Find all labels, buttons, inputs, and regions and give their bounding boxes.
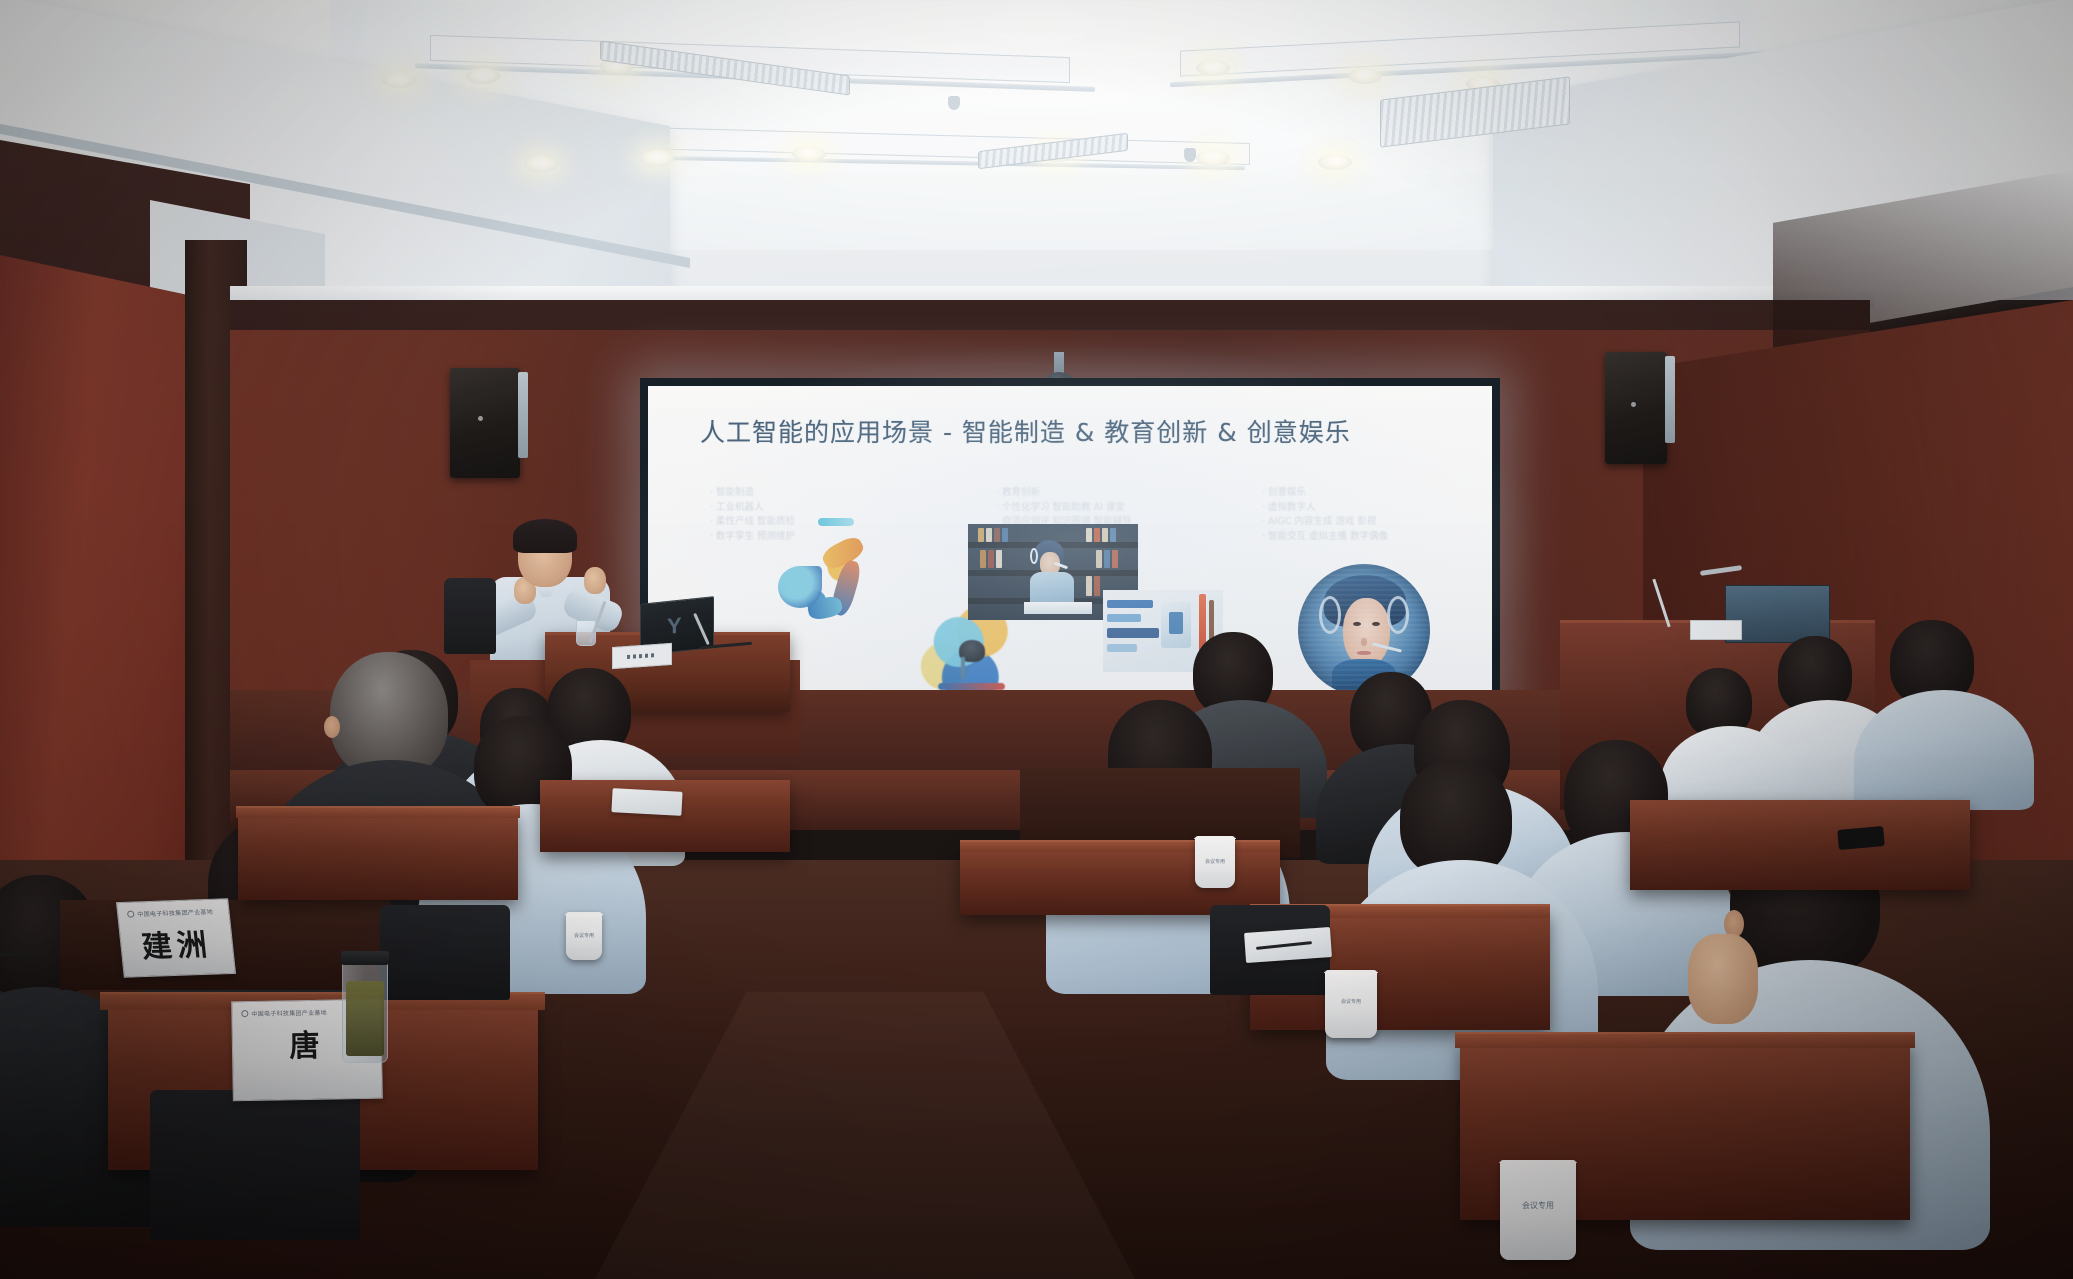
- cup-logo-text: 会议专用: [1522, 1200, 1554, 1211]
- presenter-hand-left: [584, 567, 606, 594]
- sprinkler-1: [948, 96, 960, 110]
- wall-speaker-right: [1605, 352, 1667, 464]
- cup-logo-text: 会议专用: [574, 932, 594, 939]
- placard-org-line: 中国电子科技集团产业基地: [127, 907, 214, 919]
- paper-cup-left: 会议专用: [566, 912, 602, 960]
- presenter-name-card: [612, 643, 672, 669]
- placard-org-line: 中国电子科技集团产业基地: [241, 1008, 327, 1018]
- name-placard-jianzhou: 中国电子科技集团产业基地 建洲: [116, 898, 236, 978]
- tea-jar: [342, 958, 388, 1063]
- bullet-line: · 智能交互 虚拟主播 数字偶像: [1262, 530, 1492, 545]
- wall-speaker-left: [450, 368, 520, 478]
- desk-left-rear-top: [236, 806, 520, 818]
- phone-on-desk: [1837, 826, 1885, 850]
- downlight-4: [1196, 60, 1230, 76]
- eyeglasses: [0, 953, 38, 956]
- tea-jar-lid: [341, 951, 389, 965]
- paper-cup-mid-center: 会议专用: [1325, 970, 1377, 1038]
- desk-right-front-top: [1455, 1032, 1915, 1048]
- downlight-11: [792, 146, 826, 162]
- downlight-9: [524, 156, 558, 172]
- downlight-10: [640, 150, 674, 166]
- slide-image-robot-arm-icon: [778, 536, 878, 641]
- bullet-line: · AIGC 内容生成 游戏 影视: [1262, 515, 1492, 530]
- bullet-line: · 工业机器人: [710, 501, 960, 516]
- slide-bullet-column-3: · 创意娱乐 · 虚拟数字人 · AIGC 内容生成 游戏 影视 · 智能交互 …: [1262, 486, 1492, 545]
- conference-room-photo: 人工智能的应用场景 - 智能制造 & 教育创新 & 创意娱乐 · 智能制造 · …: [0, 0, 2073, 1279]
- notebook-left: [611, 788, 682, 816]
- sprinkler-2: [1184, 148, 1196, 162]
- bullet-line: · 智能制造: [710, 486, 960, 501]
- placard-name-text: 建洲: [119, 919, 234, 967]
- downlight-1: [382, 72, 416, 88]
- chair-left-2: [150, 1090, 360, 1240]
- downlight-5: [1348, 68, 1382, 84]
- right-podium-name-card: [1690, 620, 1742, 640]
- paper-cup-front-right: 会议专用: [1500, 1160, 1576, 1260]
- bullet-line: · 个性化学习 智能助教 AI 课堂: [996, 501, 1276, 516]
- presenter-hair: [513, 519, 577, 553]
- downlight-8: [1318, 154, 1352, 170]
- chair-left-1: [380, 905, 510, 1000]
- slide-title: 人工智能的应用场景 - 智能制造 & 教育创新 & 创意娱乐: [700, 413, 1351, 449]
- bullet-line: · 创意娱乐: [1262, 486, 1492, 501]
- paper-cup-rear-center: 会议专用: [1195, 836, 1235, 888]
- desk-left-rear: [238, 810, 518, 900]
- tea-jar-contents: [346, 981, 384, 1056]
- presenter-chair: [444, 578, 496, 654]
- bullet-line: · 虚拟数字人: [1262, 501, 1492, 516]
- downlight-7: [1196, 150, 1230, 166]
- cup-logo-text: 会议专用: [1205, 858, 1225, 865]
- cup-logo-text: 会议专用: [1341, 998, 1361, 1005]
- bullet-line: · 教育创新: [996, 486, 1276, 501]
- desk-right-rear: [1630, 800, 1970, 890]
- downlight-2: [466, 68, 500, 84]
